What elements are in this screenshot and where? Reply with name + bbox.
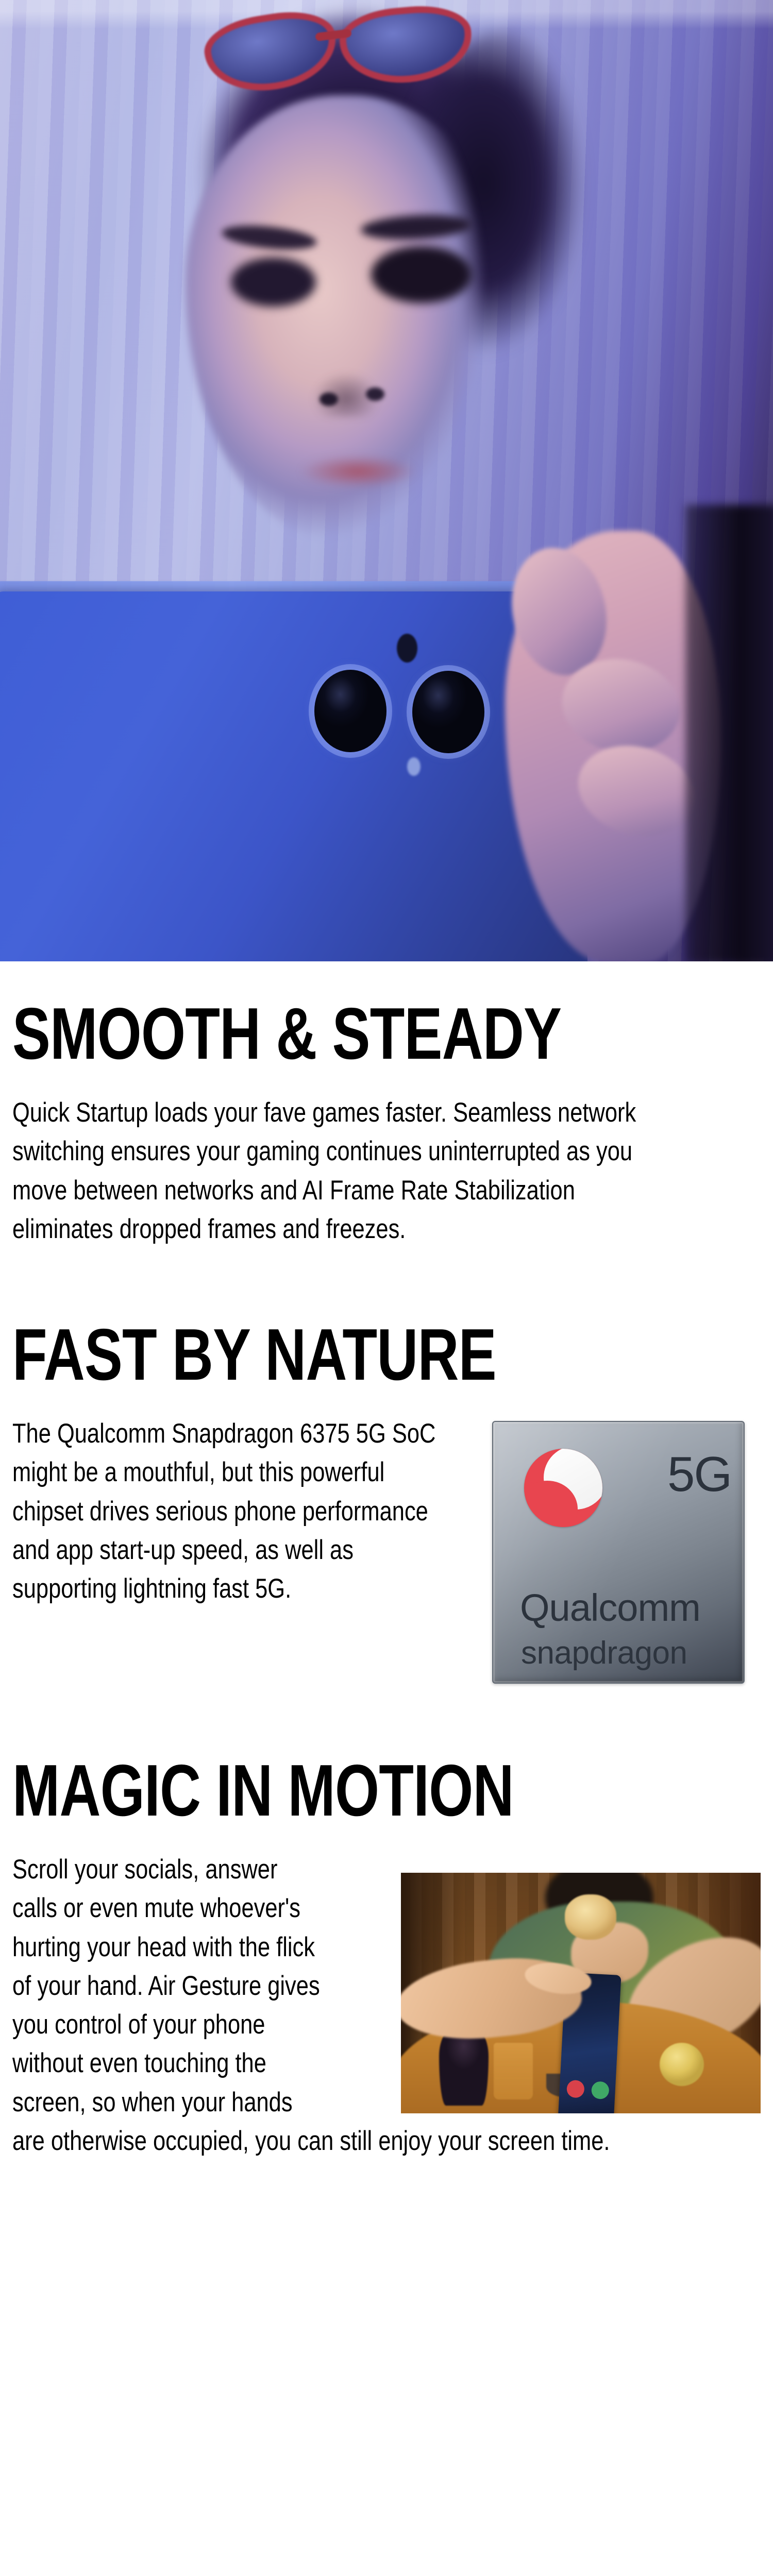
paragraph-smooth-steady: Quick Startup loads your fave games fast…: [12, 1093, 636, 1248]
section-magic-in-motion: MAGIC IN MOTION: [0, 1682, 773, 2160]
camera-flash-icon: [397, 634, 417, 663]
article-content: SMOOTH & STEADY Quick Startup loads your…: [0, 961, 773, 2160]
snapdragon-s-logo: [524, 1449, 602, 1527]
heading-fast-by-nature: FAST BY NATURE: [12, 1318, 596, 1392]
rear-camera-lens-1: [314, 670, 386, 752]
hero-shadow-right: [685, 505, 773, 961]
section-smooth-steady: SMOOTH & STEADY Quick Startup loads your…: [0, 961, 773, 1248]
paragraph-smooth-steady-wrap: Quick Startup loads your fave games fast…: [12, 1093, 636, 1248]
chip-package: 5G Qualcomm snapdragon: [492, 1421, 745, 1684]
snapdragon-logo-tail: [527, 1482, 570, 1510]
qualcomm-chip-image: 5G Qualcomm snapdragon: [492, 1421, 743, 1682]
heading-magic-in-motion: MAGIC IN MOTION: [12, 1754, 596, 1827]
chip-brand-text: Qualcomm: [520, 1589, 700, 1627]
paragraph-fast-by-nature-wrap: The Qualcomm Snapdragon 6375 5G SoC migh…: [12, 1414, 456, 1608]
lips-shape: [294, 453, 423, 489]
fast-by-nature-row: The Qualcomm Snapdragon 6375 5G SoC migh…: [12, 1414, 761, 1682]
rear-camera-lens-2: [412, 671, 484, 753]
paragraph-magic-in-motion: Scroll your socials, answer calls or eve…: [12, 1850, 761, 2160]
paragraph-fast-by-nature: The Qualcomm Snapdragon 6375 5G SoC migh…: [12, 1414, 456, 1608]
hero-image: [0, 0, 773, 961]
nostril-left: [320, 393, 338, 406]
heading-smooth-steady: SMOOTH & STEADY: [12, 997, 596, 1071]
magic-in-motion-body: Scroll your socials, answer calls or eve…: [12, 1850, 761, 2160]
chip-5g-badge: 5G: [667, 1450, 731, 1499]
chip-product-text: snapdragon: [521, 1637, 687, 1669]
nostril-right: [366, 387, 384, 401]
microphone-hole: [407, 757, 421, 776]
phone-body: [0, 591, 587, 961]
snapdragon-logo-notch: [534, 1487, 569, 1507]
eye-right: [371, 246, 472, 303]
section-fast-by-nature: FAST BY NATURE The Qualcomm Snapdragon 6…: [0, 1248, 773, 1682]
eye-left: [231, 258, 316, 307]
nose-shape: [307, 355, 384, 417]
